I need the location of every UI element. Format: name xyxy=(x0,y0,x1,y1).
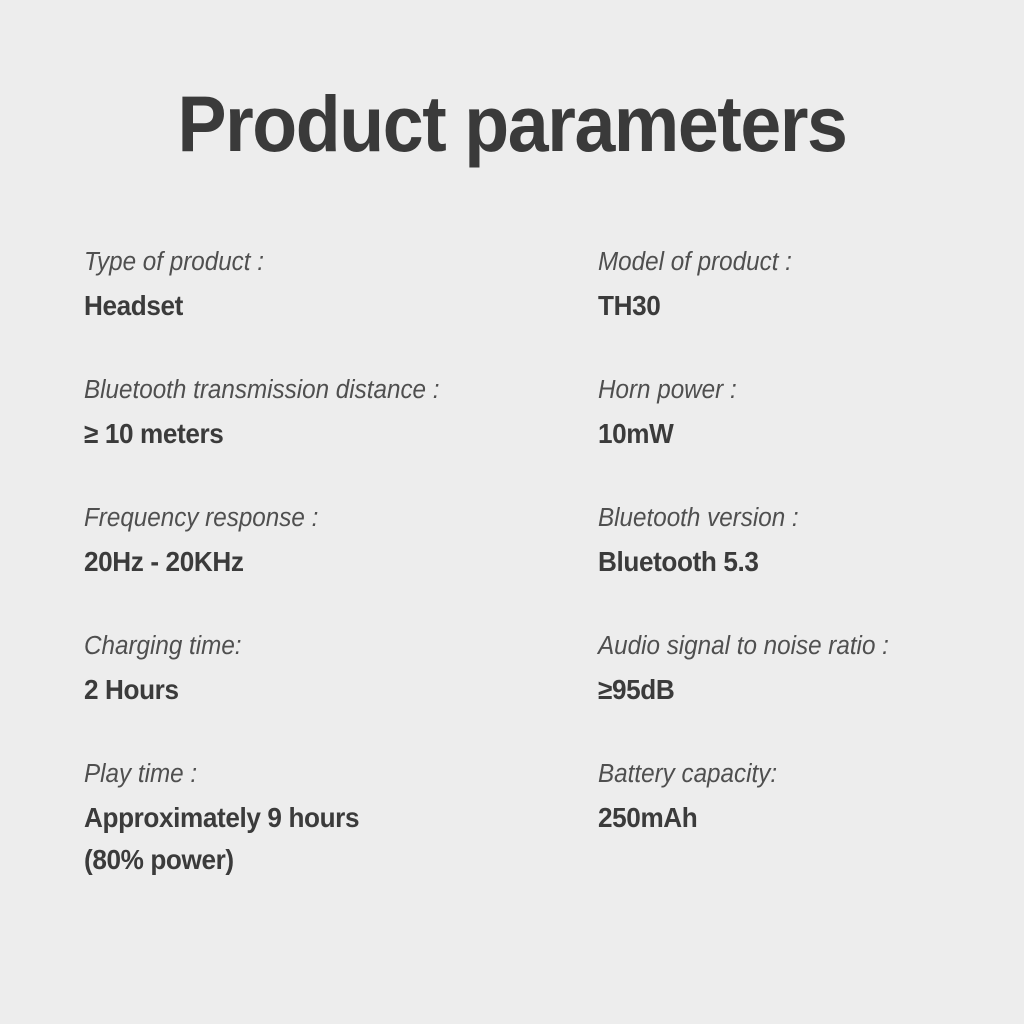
spec-label: Type of product : xyxy=(84,246,572,278)
spec-value: Approximately 9 hours (80% power) xyxy=(84,797,369,881)
spec-value: 10mW xyxy=(598,413,912,455)
spec-value: 250mAh xyxy=(598,797,912,839)
spec-label: Battery capacity: xyxy=(598,758,946,790)
spec-item-charging-time: Charging time: 2 Hours xyxy=(84,630,598,758)
spec-value: 20Hz - 20KHz xyxy=(84,541,398,583)
spec-value: Headset xyxy=(84,285,398,327)
spec-label: Charging time: xyxy=(84,630,572,662)
spec-label: Audio signal to noise ratio : xyxy=(598,630,946,662)
spec-label: Horn power : xyxy=(598,374,946,406)
spec-value: 2 Hours xyxy=(84,669,398,711)
spec-value: TH30 xyxy=(598,285,912,327)
spec-item-audio-signal-to-noise-ratio: Audio signal to noise ratio : ≥95dB xyxy=(598,630,964,758)
spec-item-horn-power: Horn power : 10mW xyxy=(598,374,964,502)
spec-item-model-of-product: Model of product : TH30 xyxy=(598,246,964,374)
spec-label: Bluetooth version : xyxy=(598,502,946,534)
spec-value: ≥95dB xyxy=(598,669,912,711)
spec-item-frequency-response: Frequency response : 20Hz - 20KHz xyxy=(84,502,598,630)
spec-value: ≥ 10 meters xyxy=(84,413,398,455)
spec-item-bluetooth-transmission-distance: Bluetooth transmission distance : ≥ 10 m… xyxy=(84,374,598,502)
spec-label: Frequency response : xyxy=(84,502,572,534)
spec-item-play-time: Play time : Approximately 9 hours (80% p… xyxy=(84,758,598,886)
product-parameters-sheet: Product parameters Type of product : Hea… xyxy=(0,0,1024,1024)
spec-item-battery-capacity: Battery capacity: 250mAh xyxy=(598,758,964,886)
spec-label: Model of product : xyxy=(598,246,946,278)
spec-item-type-of-product: Type of product : Headset xyxy=(84,246,598,374)
page-title: Product parameters xyxy=(36,84,988,163)
spec-item-bluetooth-version: Bluetooth version : Bluetooth 5.3 xyxy=(598,502,964,630)
spec-label: Play time : xyxy=(84,758,572,790)
spec-grid: Type of product : Headset Model of produ… xyxy=(84,246,964,886)
spec-label: Bluetooth transmission distance : xyxy=(84,374,572,406)
spec-value: Bluetooth 5.3 xyxy=(598,541,912,583)
